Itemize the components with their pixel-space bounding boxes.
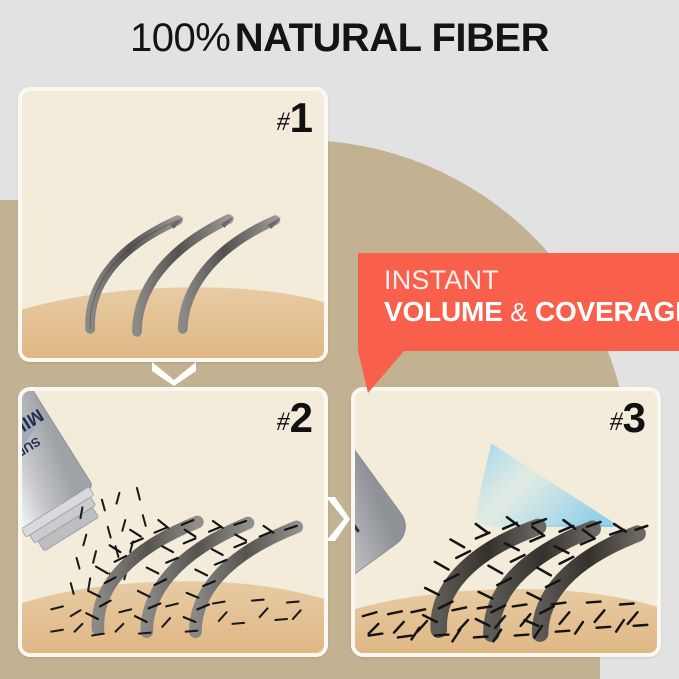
panel-1-number: #1 bbox=[277, 97, 312, 139]
hash-symbol: # bbox=[610, 407, 623, 436]
panel-3-number: #3 bbox=[610, 397, 645, 439]
hash-symbol: # bbox=[277, 407, 290, 436]
banner-tail-shape bbox=[358, 351, 404, 393]
infographic-canvas: 100% NATURAL FIBER bbox=[0, 0, 679, 679]
page-title: 100% NATURAL FIBER bbox=[0, 18, 679, 58]
callout-banner: INSTANT VOLUME & COVERAGE bbox=[358, 253, 679, 351]
panel-2-number: #2 bbox=[277, 397, 312, 439]
callout-line-1: INSTANT bbox=[384, 265, 679, 295]
step-number: 2 bbox=[290, 394, 312, 441]
chevron-down-shape bbox=[152, 362, 196, 386]
hash-symbol: # bbox=[277, 107, 290, 136]
title-bold-part: NATURAL FIBER bbox=[235, 16, 549, 60]
scalp-surface-2 bbox=[22, 581, 324, 653]
callout-ampersand: & bbox=[510, 297, 527, 327]
title-light-part: 100% bbox=[130, 16, 230, 60]
callout-line-2: VOLUME & COVERAGE bbox=[384, 295, 679, 329]
chevron-right-shape bbox=[326, 497, 350, 541]
callout-volume-text: VOLUME bbox=[384, 296, 503, 327]
step-number: 1 bbox=[290, 94, 312, 141]
chevron-down-icon bbox=[150, 360, 198, 386]
step-panel-2[interactable]: MILLION SUPER bbox=[18, 387, 328, 657]
chevron-right-icon bbox=[324, 495, 350, 543]
step-number: 3 bbox=[623, 394, 645, 441]
callout-banner-tail bbox=[358, 351, 404, 393]
step-panel-3[interactable]: SUPER HAIR bbox=[351, 387, 661, 657]
step-panel-1[interactable]: #1 bbox=[18, 87, 328, 362]
callout-coverage-text: COVERAGE bbox=[535, 296, 679, 327]
chevron-right-svg bbox=[324, 495, 350, 543]
chevron-down-svg bbox=[150, 360, 198, 386]
